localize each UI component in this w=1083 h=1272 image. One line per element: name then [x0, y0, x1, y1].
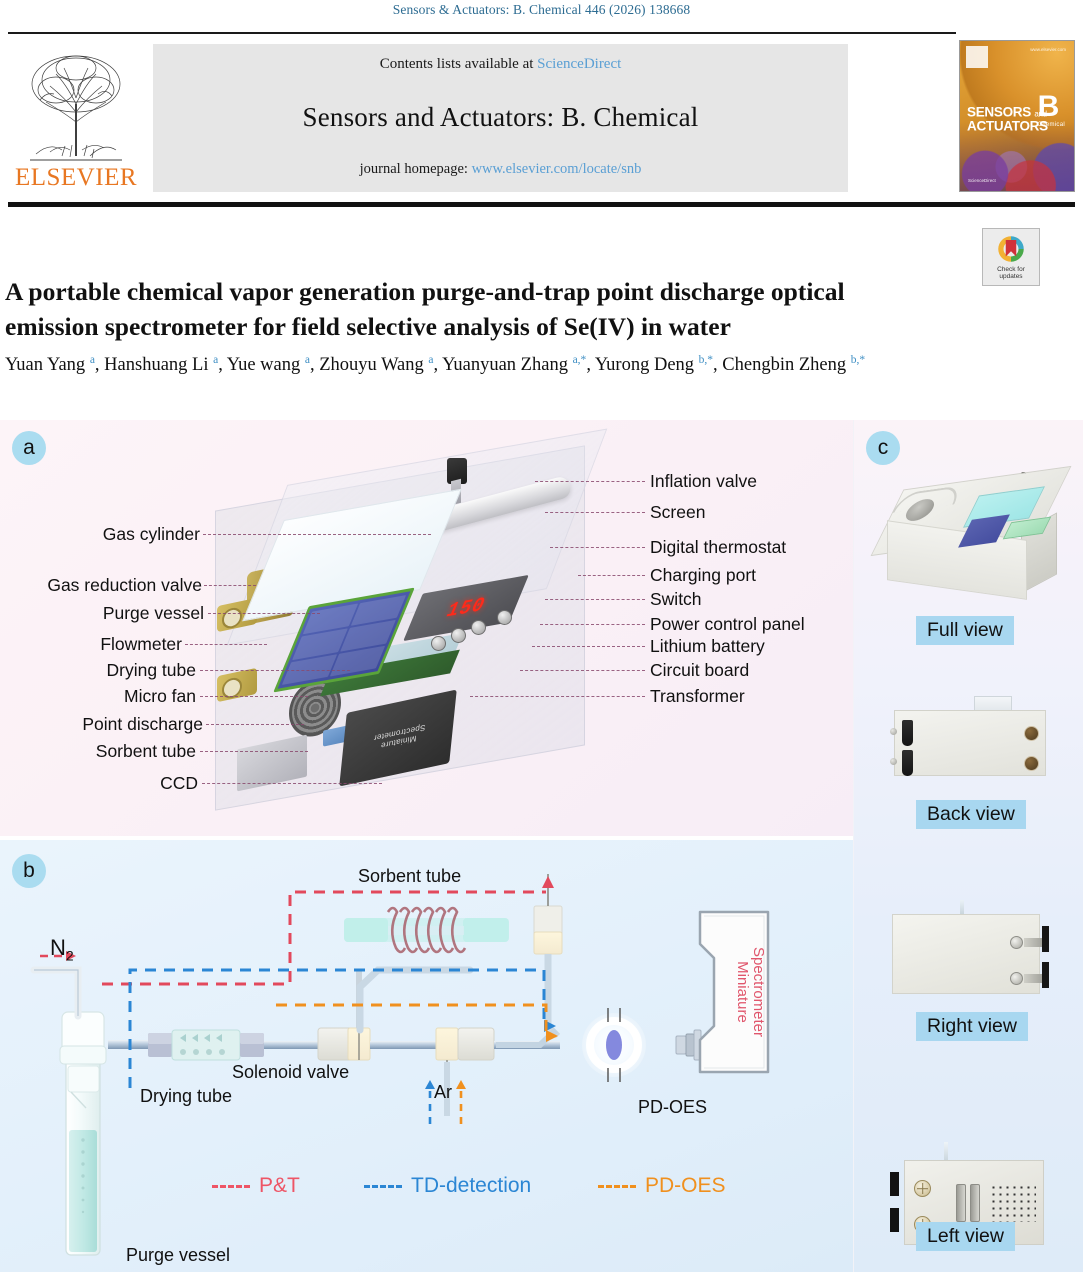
switch-knob [431, 636, 446, 651]
contents-line: Contents lists available at ScienceDirec… [380, 56, 622, 73]
device-knob [1024, 756, 1039, 771]
crossmark-badge[interactable]: Check for updates [982, 228, 1040, 286]
crossmark-label: Check for updates [997, 266, 1025, 281]
device-stud [890, 728, 897, 735]
label-inflation-valve: Inflation valve [650, 471, 757, 492]
panel-b: b [0, 840, 853, 1272]
leader-line [550, 547, 645, 548]
drying-tube-graphic [108, 1030, 318, 1060]
badge-right-view: Right view [916, 1012, 1028, 1041]
label-power-control-panel: Power control panel [650, 614, 805, 635]
journal-title: Sensors and Actuators: B. Chemical [303, 102, 699, 133]
device-knob [1024, 726, 1039, 741]
device-screw [1010, 936, 1023, 949]
antenna-icon [944, 1142, 948, 1162]
elsevier-wordmark: ELSEVIER [10, 164, 142, 192]
charging-port-knob [497, 610, 512, 625]
cover-sub: Chemical [1038, 122, 1065, 128]
journal-banner: ELSEVIER Contents lists available at Sci… [8, 32, 1075, 204]
label-sorbent-tube: Sorbent tube [0, 741, 196, 762]
device-plate [890, 1172, 899, 1196]
legend-label-td: TD-detection [411, 1174, 531, 1198]
label-ar-gas: Ar [434, 1082, 452, 1103]
leader-line [206, 724, 304, 725]
banner-rule-top [8, 32, 956, 34]
cover-series-letter: B Chemical [1038, 92, 1065, 128]
cover-elsevier-mark [966, 46, 988, 68]
device-plate [1042, 962, 1049, 988]
author-list: Yuan Yang a, Hanshuang Li a, Yue wang a,… [5, 352, 965, 379]
device-3d-illustration: MiniatureSpectrometer 150 [195, 450, 615, 810]
sciencedirect-link[interactable]: ScienceDirect [537, 56, 621, 72]
label-circuit-board: Circuit board [650, 660, 749, 681]
leader-line [202, 783, 382, 784]
device-back-face [894, 710, 1046, 776]
panel-c-tag: c [866, 431, 900, 465]
label-screen: Screen [650, 502, 705, 523]
label-charging-port: Charging port [650, 565, 756, 586]
switch-knob [451, 628, 466, 643]
legend-dash-pt [212, 1185, 250, 1188]
leader-line [540, 624, 645, 625]
page-title: A portable chemical vapor generation pur… [5, 275, 935, 344]
spectrometer-part-text: MiniatureSpectrometer [356, 719, 442, 755]
cover-line1: SENSORS [967, 105, 1031, 120]
cover-topright-text: www.elsevier.com [1030, 47, 1066, 52]
badge-left-view: Left view [916, 1222, 1015, 1251]
crossmark-line1: Check for [997, 266, 1025, 273]
flow-schematic: Miniature Spectrometer [0, 840, 853, 1272]
label-drying-tube-b: Drying tube [140, 1086, 232, 1107]
label-ccd: CCD [0, 773, 198, 794]
label-purge-vessel-b: Purge vessel [126, 1245, 230, 1266]
label-n2-inlet: N2 [50, 935, 74, 963]
pt-flow-arrowhead [542, 876, 554, 888]
control-key [351, 595, 406, 626]
solenoid-valve-1-graphic [318, 970, 436, 1060]
leader-line [532, 646, 645, 647]
leader-line [545, 512, 645, 513]
device-stud [890, 758, 897, 765]
cover-letter: B [1038, 90, 1060, 123]
panel-a-tag: a [12, 431, 46, 465]
legend-label-pdoes: PD-OES [645, 1174, 726, 1198]
label-micro-fan: Micro fan [0, 686, 196, 707]
optical-coupler-graphic [676, 1030, 701, 1060]
legend-pt: P&T [212, 1174, 300, 1198]
spectrometer-label-line1: Miniature [734, 961, 751, 1023]
badge-back-view: Back view [916, 800, 1026, 829]
running-head: Sensors & Actuators: B. Chemical 446 (20… [0, 2, 1083, 18]
legend-dash-pdoes [598, 1185, 636, 1188]
label-sorbent-tube-b: Sorbent tube [358, 866, 461, 887]
purge-vessel-graphic [60, 1012, 106, 1255]
figure-composite: a MiniatureSpectrometer [0, 420, 1083, 1272]
device-vent-slot [956, 1184, 966, 1222]
switch-knob [471, 620, 486, 635]
homepage-prefix: journal homepage: [360, 161, 472, 177]
leader-line [200, 751, 308, 752]
device-vent-grille [990, 1184, 1036, 1222]
legend-dash-td [364, 1185, 402, 1188]
leader-line [208, 613, 320, 614]
banner-center: Contents lists available at ScienceDirec… [153, 44, 848, 192]
elsevier-tree-icon [10, 44, 142, 168]
label-point-discharge: Point discharge [0, 714, 203, 735]
label-purge-vessel: Purge vessel [0, 603, 204, 624]
n2-symbol: N [50, 935, 66, 960]
panel-divider [0, 836, 853, 838]
banner-rule-bottom [8, 202, 1075, 207]
spectrometer-label-line2: Spectrometer [750, 947, 767, 1037]
cover-bottom-text: ScienceDirect [968, 178, 996, 183]
label-drying-tube: Drying tube [0, 660, 196, 681]
panel-c: c Full view Back view [853, 420, 1083, 1272]
device-screw [914, 1180, 931, 1197]
leader-line [203, 534, 431, 535]
elsevier-logo: ELSEVIER [10, 44, 142, 194]
journal-cover-thumbnail: www.elsevier.com SENSORS and ACTUATORS B… [959, 40, 1075, 192]
leader-line [520, 670, 645, 671]
pdoes-flow-path [276, 1005, 546, 1036]
device-back-view [882, 696, 1062, 781]
leader-line [204, 585, 256, 586]
label-digital-thermostat: Digital thermostat [650, 537, 786, 558]
panel-a: a MiniatureSpectrometer [0, 420, 853, 838]
label-flowmeter: Flowmeter [0, 634, 182, 655]
homepage-line: journal homepage: www.elsevier.com/locat… [360, 161, 642, 178]
n2-subscript: 2 [66, 947, 74, 963]
journal-homepage-link[interactable]: www.elsevier.com/locate/snb [472, 161, 642, 177]
device-full-view [879, 472, 1064, 602]
device-clip [902, 720, 913, 746]
legend-td: TD-detection [364, 1174, 531, 1198]
cover-line2: ACTUATORS [967, 119, 1048, 133]
n2-inlet-tube [34, 970, 78, 1016]
device-plate [1042, 926, 1049, 952]
badge-full-view: Full view [916, 616, 1014, 645]
device-screw [1010, 972, 1023, 985]
cover-title: SENSORS and ACTUATORS [967, 106, 1048, 133]
label-transformer: Transformer [650, 686, 745, 707]
contents-prefix: Contents lists available at [380, 56, 537, 72]
device-right-view [882, 900, 1062, 1010]
leader-line [470, 696, 645, 697]
label-pd-oes-cell: PD-OES [638, 1097, 707, 1118]
thermostat-reading: 150 [442, 593, 489, 623]
pd-oes-cell-graphic [582, 1008, 646, 1082]
leader-line [200, 696, 308, 697]
leader-line [545, 599, 645, 600]
label-lithium-battery: Lithium battery [650, 636, 765, 657]
leader-line [185, 644, 267, 645]
solenoid-valve-2-graphic [436, 1028, 560, 1102]
label-solenoid-valve: Solenoid valve [232, 1062, 349, 1083]
label-gas-cylinder: Gas cylinder [0, 524, 200, 545]
leader-line [578, 575, 645, 576]
crossmark-icon [995, 234, 1027, 264]
device-clip [902, 750, 913, 776]
leader-line [200, 670, 350, 671]
device-vent-slot [970, 1184, 980, 1222]
label-gas-reduction-valve: Gas reduction valve [0, 575, 202, 596]
legend-pdoes: PD-OES [598, 1174, 726, 1198]
label-switch: Switch [650, 589, 702, 610]
legend-label-pt: P&T [259, 1174, 300, 1198]
leader-line [535, 481, 645, 482]
crossmark-line2: updates [999, 273, 1022, 280]
device-plate [890, 1208, 899, 1232]
